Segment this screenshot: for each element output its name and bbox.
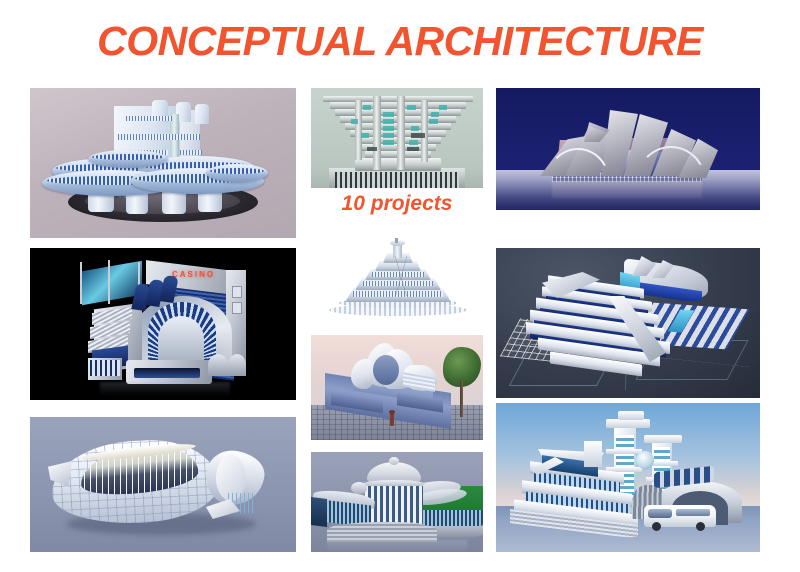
dark-window	[411, 133, 425, 138]
tower-window-band	[126, 116, 172, 121]
tower-left-cap	[618, 411, 644, 420]
left-wing-end	[311, 497, 327, 527]
teal-window	[411, 126, 419, 131]
tower-right-cap	[644, 435, 682, 443]
tree-trunk	[460, 381, 463, 417]
tower-window-band	[118, 134, 200, 140]
gallery-image-pod-stadium[interactable]	[30, 417, 296, 552]
dark-window	[367, 147, 377, 151]
nose-fin	[48, 461, 72, 487]
gallery-image-inverted-pyramid-tower[interactable]	[311, 88, 483, 188]
teal-window	[361, 133, 369, 138]
truss-lines	[371, 256, 431, 296]
bus-windows	[676, 509, 710, 516]
bus-windshield	[648, 509, 672, 518]
entry-steps	[327, 522, 437, 542]
gallery-image-pyramid-spire-tower[interactable]	[311, 238, 483, 325]
teal-window	[431, 112, 439, 117]
scene-9	[311, 452, 483, 552]
side-podium-glazing	[90, 360, 120, 376]
tower-window-band	[180, 150, 202, 155]
podium-columns	[335, 172, 459, 188]
side-pod	[351, 482, 367, 494]
scene-8	[30, 417, 296, 552]
arc-inner	[158, 316, 204, 362]
entry-opening	[134, 368, 200, 378]
teal-window	[383, 133, 394, 138]
teal-window	[439, 105, 447, 110]
arch-vault	[228, 354, 246, 376]
clock-icon	[636, 451, 654, 469]
structural-core	[373, 96, 381, 170]
project-count-label: 10 projects	[311, 192, 483, 216]
tower-window	[232, 286, 242, 298]
tower-window	[232, 302, 242, 314]
teal-window	[383, 126, 394, 131]
scene-2	[311, 88, 483, 188]
teal-window	[429, 119, 438, 124]
casino-sign: CASINO	[172, 270, 215, 279]
ground-reflection	[327, 540, 467, 552]
poster-canvas: CONCEPTUAL ARCHITECTURE	[0, 0, 800, 572]
ground-reflection	[552, 180, 702, 198]
scene-5	[311, 238, 483, 325]
arch-vault	[208, 354, 228, 376]
gallery-image-plaza-pavilion[interactable]	[311, 335, 483, 440]
teal-window	[409, 140, 418, 145]
tower-left-cap	[606, 419, 650, 428]
scene-10	[496, 403, 760, 552]
service-core	[584, 441, 602, 467]
gallery-image-domed-colonnade-hall[interactable]	[311, 452, 483, 552]
gallery-image-casino-building[interactable]: CASINO	[30, 248, 296, 400]
human-figure-head	[389, 410, 395, 414]
page-title: CONCEPTUAL ARCHITECTURE	[0, 18, 800, 65]
shell-opening	[373, 355, 399, 385]
gallery-image-terraced-civic-complex[interactable]	[496, 248, 760, 398]
canopy-mullion	[80, 262, 82, 304]
structural-core	[355, 100, 362, 160]
shell-form	[351, 359, 375, 389]
bus-wheel	[696, 522, 705, 531]
scene-4: CASINO	[30, 248, 296, 400]
teal-window	[407, 105, 416, 110]
spire-tip	[395, 238, 398, 243]
teal-window	[383, 140, 394, 145]
scene-3	[496, 88, 760, 210]
terrace-window-ring	[92, 154, 164, 160]
ground-reflection	[100, 382, 230, 396]
gallery-image-angular-sail-complex[interactable]	[496, 88, 760, 210]
dark-window	[407, 147, 419, 151]
bus-wheel	[652, 522, 661, 531]
scene-6	[311, 335, 483, 440]
human-figure	[390, 413, 394, 426]
structural-core	[421, 100, 428, 162]
terrace-window-ring	[210, 168, 264, 174]
tower-cap	[195, 104, 209, 124]
canopy-mullion	[108, 260, 110, 304]
tower-left-ledge	[606, 449, 642, 454]
teal-window	[351, 119, 358, 124]
dome-lantern	[389, 457, 399, 465]
teal-window	[383, 119, 394, 124]
structural-core	[397, 96, 405, 170]
teal-window	[363, 105, 371, 110]
teal-window	[383, 112, 394, 117]
gallery-image-transit-terminal[interactable]	[496, 403, 760, 552]
scene-1	[30, 88, 296, 238]
gallery-image-circular-tiered-tower[interactable]	[30, 88, 296, 238]
scene-7	[496, 248, 760, 398]
